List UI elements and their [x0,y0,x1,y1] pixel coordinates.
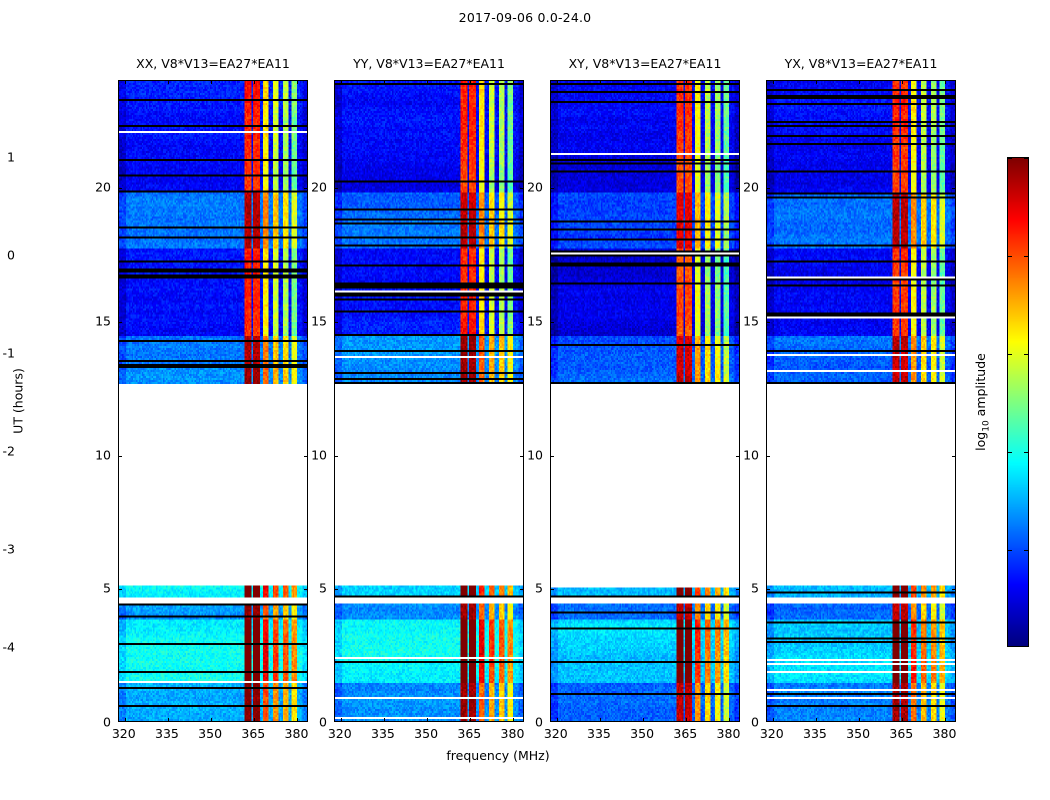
x-tick [729,80,730,84]
colorbar-tick-label: -4 [3,640,15,655]
x-tick-label: 320 [544,726,568,741]
x-tick-label: 335 [587,726,611,741]
x-tick [254,80,255,84]
colorbar-tick-label: -2 [3,444,15,459]
colorbar-tick [1007,354,1012,355]
panel-title: XX, V8*V13=EA27*EA11 [136,56,290,71]
x-axis-title: frequency (MHz) [0,748,1050,763]
x-tick [859,80,860,84]
dynamic-spectrum-image [551,81,739,721]
panel-yx: YX, V8*V13=EA27*EA1132033535036538005101… [766,80,956,722]
y-tick [304,456,308,457]
x-tick-label: 350 [198,726,222,741]
y-tick [952,589,956,590]
x-tick-label: 335 [155,726,179,741]
x-tick [254,718,255,722]
y-tick-label: 15 [527,313,543,328]
x-tick [902,718,903,722]
colorbar-title: log10 amplitude [973,353,992,451]
y-tick [304,188,308,189]
x-tick [773,718,774,722]
panel-xx: XX, V8*V13=EA27*EA1132033535036538005101… [118,80,308,722]
y-tick [952,456,956,457]
panel-title: XY, V8*V13=EA27*EA11 [569,56,722,71]
spectrum-canvas [551,81,739,721]
dynamic-spectrum-image [335,81,523,721]
x-tick [168,80,169,84]
panel-axes [118,80,308,722]
y-tick [736,322,740,323]
x-tick [125,80,126,84]
y-tick [520,188,524,189]
y-tick [304,589,308,590]
spectrum-canvas [335,81,523,721]
dynamic-spectrum-image [767,81,955,721]
y-tick-label: 0 [103,715,111,730]
x-tick [816,718,817,722]
x-tick [297,718,298,722]
x-tick [470,80,471,84]
x-tick [859,718,860,722]
x-tick [513,80,514,84]
x-tick [729,718,730,722]
x-tick-label: 380 [285,726,309,741]
y-tick-label: 10 [527,447,543,462]
y-tick [766,322,770,323]
panel-title: YX, V8*V13=EA27*EA11 [785,56,938,71]
y-tick [118,589,122,590]
colorbar-tick [1024,452,1029,453]
colorbar-tick [1007,452,1012,453]
y-tick [118,322,122,323]
x-tick [557,80,558,84]
colorbar-tick-label: -1 [3,346,15,361]
figure-canvas: 2017-09-06 0.0-24.0 XX, V8*V13=EA27*EA11… [0,0,1050,800]
colorbar-title-main: log [973,432,988,451]
y-tick-label: 5 [103,581,111,596]
y-tick [736,188,740,189]
x-tick [384,718,385,722]
x-tick [816,80,817,84]
x-tick [643,80,644,84]
panel-yy: YY, V8*V13=EA27*EA1132033535036538005101… [334,80,524,722]
y-tick [766,589,770,590]
panel-axes [334,80,524,722]
y-tick [118,456,122,457]
y-tick-label: 5 [751,581,759,596]
x-tick-label: 320 [760,726,784,741]
y-tick [334,456,338,457]
y-tick [520,322,524,323]
y-tick [304,322,308,323]
y-tick [736,456,740,457]
x-tick-label: 335 [803,726,827,741]
x-tick-label: 365 [457,726,481,741]
x-tick [125,718,126,722]
x-tick-label: 380 [933,726,957,741]
y-tick [118,188,122,189]
colorbar-title-sub: 10 [981,420,991,431]
y-tick [952,188,956,189]
x-tick [341,80,342,84]
panel-axes [550,80,740,722]
colorbar-tick [1024,550,1029,551]
y-tick-label: 5 [535,581,543,596]
spectrum-canvas [119,81,307,721]
y-tick [520,456,524,457]
y-tick [520,589,524,590]
y-tick-label: 0 [319,715,327,730]
dynamic-spectrum-image [119,81,307,721]
spectrum-canvas [767,81,955,721]
colorbar-tick [1024,256,1029,257]
x-tick [341,718,342,722]
x-tick [384,80,385,84]
x-tick [773,80,774,84]
x-tick-label: 335 [371,726,395,741]
colorbar-tick [1007,158,1012,159]
x-tick-label: 365 [889,726,913,741]
y-tick-label: 20 [95,180,111,195]
x-tick [686,718,687,722]
y-tick-label: 10 [95,447,111,462]
y-tick-label: 15 [743,313,759,328]
x-tick-label: 365 [241,726,265,741]
y-tick-label: 15 [311,313,327,328]
x-tick [297,80,298,84]
colorbar-gradient [1008,158,1028,646]
x-tick-label: 365 [673,726,697,741]
x-tick [600,80,601,84]
x-tick [427,718,428,722]
y-tick [334,589,338,590]
x-tick [686,80,687,84]
x-tick-label: 320 [112,726,136,741]
x-tick [643,718,644,722]
y-tick [736,589,740,590]
x-tick [211,80,212,84]
x-tick [513,718,514,722]
x-tick [427,80,428,84]
x-tick-label: 320 [328,726,352,741]
figure-suptitle: 2017-09-06 0.0-24.0 [0,10,1050,25]
panel-xy: XY, V8*V13=EA27*EA1132033535036538005101… [550,80,740,722]
y-tick [550,322,554,323]
y-tick-label: 20 [527,180,543,195]
colorbar-title-tail: amplitude [973,353,988,420]
y-tick-label: 15 [95,313,111,328]
y-tick [550,589,554,590]
colorbar-tick [1024,158,1029,159]
x-tick [945,718,946,722]
x-tick [600,718,601,722]
y-tick [766,188,770,189]
y-tick-label: 5 [319,581,327,596]
colorbar [1007,157,1029,647]
y-tick-label: 10 [311,447,327,462]
x-tick [945,80,946,84]
y-tick [550,456,554,457]
panel-axes [766,80,956,722]
colorbar-tick-label: 1 [7,150,15,165]
y-tick [766,456,770,457]
y-tick-label: 0 [751,715,759,730]
y-tick [334,322,338,323]
x-tick [902,80,903,84]
colorbar-tick [1024,354,1029,355]
x-tick [470,718,471,722]
y-axis-title: UT (hours) [11,368,26,434]
x-tick-label: 350 [414,726,438,741]
colorbar-tick [1007,550,1012,551]
x-tick [211,718,212,722]
x-axis-title-text: frequency (MHz) [446,748,549,763]
panel-title: YY, V8*V13=EA27*EA11 [353,56,505,71]
y-tick-label: 0 [535,715,543,730]
y-tick [334,188,338,189]
x-tick-label: 380 [501,726,525,741]
x-tick-label: 350 [846,726,870,741]
x-tick-label: 350 [630,726,654,741]
x-tick [557,718,558,722]
y-tick-label: 20 [311,180,327,195]
colorbar-tick [1007,256,1012,257]
y-tick-label: 10 [743,447,759,462]
x-tick-label: 380 [717,726,741,741]
colorbar-tick-label: 0 [7,248,15,263]
colorbar-tick-label: -3 [3,542,15,557]
y-tick [550,188,554,189]
y-tick [952,322,956,323]
y-tick-label: 20 [743,180,759,195]
x-tick [168,718,169,722]
